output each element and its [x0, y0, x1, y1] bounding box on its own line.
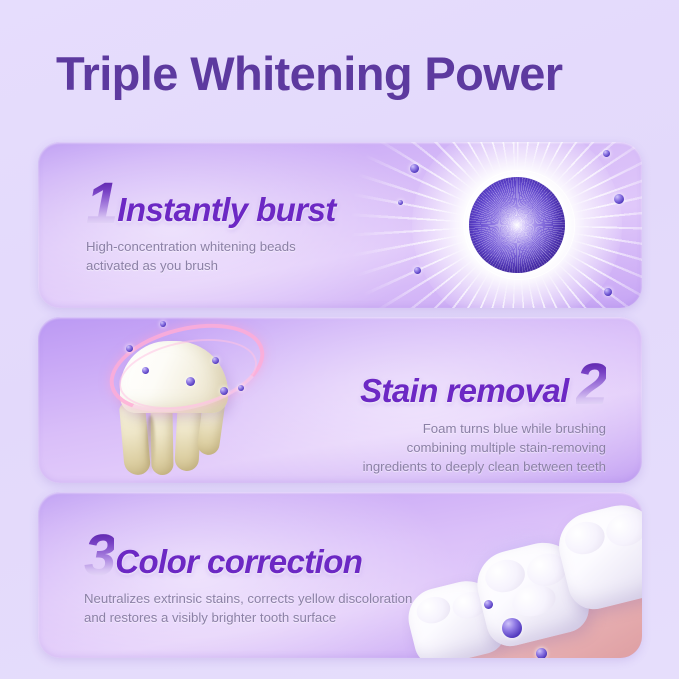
card-3-headline: Color correction [115, 543, 362, 581]
card-1-body: High-concentration whitening beads activ… [86, 237, 336, 275]
step-number-2: 2 [576, 361, 606, 409]
infographic-page: Triple Whitening Power 1 Instantly burst… [0, 0, 679, 679]
step-number-1: 1 [86, 180, 116, 228]
card-2-body: Foam turns blue while brushing combining… [360, 419, 606, 476]
page-title: Triple Whitening Power [56, 48, 562, 101]
step-number-3: 3 [84, 532, 114, 580]
card-2-headline-row: Stain removal 2 [360, 359, 606, 410]
card-2-text: Stain removal 2 Foam turns blue while br… [360, 359, 606, 476]
card-1-headline-row: 1 Instantly burst [86, 178, 336, 229]
feature-card-1: 1 Instantly burst High-concentration whi… [38, 142, 642, 308]
card-2-headline: Stain removal [360, 372, 569, 410]
card-3-headline-row: 3 Color correction [84, 530, 412, 581]
card-3-text: 3 Color correction Neutralizes extrinsic… [84, 530, 412, 627]
card-1-headline: Instantly burst [117, 191, 335, 229]
feature-card-3: 3 Color correction Neutralizes extrinsic… [38, 492, 642, 658]
card-3-body: Neutralizes extrinsic stains, corrects y… [84, 589, 412, 627]
feature-card-2: Stain removal 2 Foam turns blue while br… [38, 317, 642, 483]
card-1-text: 1 Instantly burst High-concentration whi… [86, 178, 336, 275]
